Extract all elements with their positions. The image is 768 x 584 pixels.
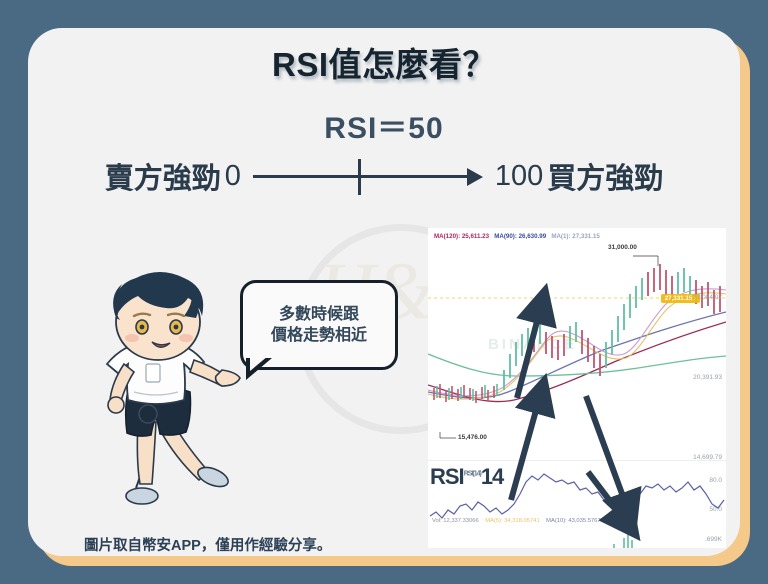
axis-label-p2: 20,391.93 xyxy=(693,374,722,381)
legend-volume: Vol: 12,337.33066 xyxy=(432,518,479,524)
legend-vol-ma10: MA(10): 43,035.57679 xyxy=(546,518,604,524)
legend-ma90: MA(90): 26,630.99 xyxy=(494,233,546,240)
page-title: RSI值怎麼看？ xyxy=(28,38,740,86)
rsi-midpoint-label: RSI＝50 xyxy=(28,103,740,147)
scale-left-value: 0 xyxy=(225,160,241,193)
disclaimer-line-1: 圖片取自幣安APP，僅用作經驗分享。 xyxy=(84,536,374,556)
price-high-label: 31,000.00 xyxy=(608,244,637,251)
scale-arrow-head-icon xyxy=(467,168,483,186)
scale-axis-midtick xyxy=(358,159,361,195)
scale-axis xyxy=(253,161,483,191)
axis-label-p1: 27,084.07 xyxy=(693,294,722,301)
volume-legend: Vol: 12,337.33066 MA(5): 34,318.05741 MA… xyxy=(432,518,604,524)
scale-right-text: 買方強勁 xyxy=(547,155,663,197)
price-low-label: 15,476.00 xyxy=(458,434,487,441)
trading-chart-panel[interactable]: MA(120): 25,611.23 MA(90): 26,630.99 MA(… xyxy=(428,228,726,548)
main-card: H& RSI值怎麼看？ RSI＝50 賣方強勁 0 100 買方強勁 xyxy=(28,28,740,556)
volume-bars xyxy=(428,526,726,548)
scale-right-value: 100 xyxy=(495,160,543,193)
panel-divider xyxy=(428,460,726,461)
disclaimer: 圖片取自幣安APP，僅用作經驗分享。 相關投資有風險，請自行謹慎判斷並自負盈虧 xyxy=(84,536,374,556)
chart-legend: MA(120): 25,611.23 MA(90): 26,630.99 MA(… xyxy=(434,233,600,240)
bubble-line-2: 價格走勢相近 xyxy=(271,325,367,346)
rsi-scale: 賣方強勁 0 100 買方強勁 xyxy=(28,152,740,200)
legend-vol-ma5: MA(5): 34,318.05741 xyxy=(485,518,539,524)
bubble-line-1: 多數時候跟 xyxy=(279,304,359,325)
speech-bubble-tail-inner xyxy=(250,356,268,371)
chibi-boy-illustration xyxy=(76,272,246,512)
legend-ma120: MA(120): 25,611.23 xyxy=(434,233,489,240)
legend-ma1: MA(1): 27,331.15 xyxy=(551,233,600,240)
scale-left-text: 賣方強勁 xyxy=(105,155,221,197)
price-candlestick-chart xyxy=(428,242,726,458)
